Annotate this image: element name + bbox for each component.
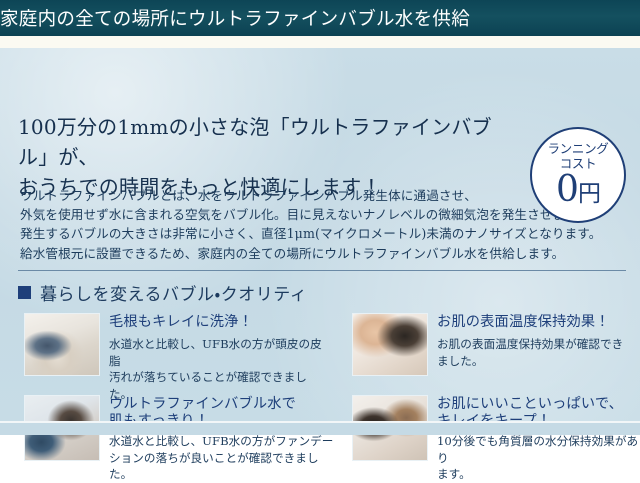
feature-card-text: ウルトラファインバブル水で 肌もすっきり！ 水道水と比較し、UFB水の方がファン… (109, 395, 334, 483)
feature-card-text: お肌にいいこといっぱいで、 キレイをキープ！ 10分後でも角質層の水分保持効果が… (437, 395, 640, 483)
feature-title-line-1: ウルトラファインバブル水で (109, 396, 296, 412)
paragraph-line-3: 発生するバブルの大きさは非常に小さく、直径1μm(マイクロメートル)未満のナノサ… (20, 224, 540, 243)
feature-body-line-1: 水道水と比較し、UFB水の方が頭皮の皮脂 (109, 336, 324, 369)
main-panel: 100万分の1mmの小さな泡「ウルトラファインバブル」が、 おうちでの時間をもっ… (0, 48, 640, 423)
badge-line-1: ランニング (547, 142, 608, 156)
badge-currency-unit: 円 (578, 181, 600, 207)
badge-amount: 0円 (556, 171, 600, 213)
lead-line-1: 100万分の1mmの小さな泡「ウルトラファインバブル」が、 (18, 115, 492, 169)
running-cost-badge: ランニング コスト 0円 (530, 127, 626, 223)
feature-card-body: 水道水と比較し、UFB水の方がファンデー ションの落ちが良いことが確認できました… (109, 433, 334, 483)
feature-card-text: 毛根もキレイに洗浄！ 水道水と比較し、UFB水の方が頭皮の皮脂 汚れが落ちている… (109, 313, 324, 402)
feature-card: お肌にいいこといっぱいで、 キレイをキープ！ 10分後でも角質層の水分保持効果が… (352, 395, 640, 483)
feature-card: 毛根もキレイに洗浄！ 水道水と比較し、UFB水の方が頭皮の皮脂 汚れが落ちている… (24, 313, 324, 402)
brochure-page: 家庭内の全ての場所にウルトラファインバブル水を供給 100万分の1mmの小さな泡… (0, 0, 640, 435)
feature-card: お肌の表面温度保持効果！ お肌の表面温度保持効果が確認でき ました。 (352, 313, 637, 376)
laundry-basket-photo (24, 313, 100, 376)
feature-body-line-2: ました。 (437, 353, 637, 370)
feature-title-line-1: お肌の表面温度保持効果！ (437, 314, 610, 330)
feature-body-line-2: ます。 (437, 466, 640, 483)
feature-card-title: お肌の表面温度保持効果！ (437, 314, 637, 331)
paragraph-line-1: ウルトラファインバブルとは、水をウルトラファインバブル発生体に通過させ、 (20, 186, 540, 205)
feature-body-line-2: ションの落ちが良いことが確認できました。 (109, 450, 334, 483)
cream-separator-band (0, 36, 640, 48)
feature-body-line-1: 水道水と比較し、UFB水の方がファンデー (109, 433, 334, 450)
bottom-strip (0, 423, 640, 435)
paragraph-line-4: 給水管根元に設置できるため、家庭内の全ての場所にウルトラファインバブル水を供給し… (20, 244, 540, 263)
section-heading: 暮らしを変えるバブル・クオリティ (18, 280, 307, 305)
feature-card-body: 水道水と比較し、UFB水の方が頭皮の皮脂 汚れが落ちていることが確認できました。 (109, 336, 324, 402)
section-divider (18, 270, 626, 271)
feature-body-line-1: お肌の表面温度保持効果が確認でき (437, 336, 637, 353)
feature-card-text: お肌の表面温度保持効果！ お肌の表面温度保持効果が確認でき ました。 (437, 313, 637, 369)
feature-card-body: お肌の表面温度保持効果が確認でき ました。 (437, 336, 637, 369)
feature-title-line-1: 毛根もキレイに洗浄！ (109, 314, 253, 330)
feature-card: ウルトラファインバブル水で 肌もすっきり！ 水道水と比較し、UFB水の方がファン… (24, 395, 334, 483)
description-paragraph: ウルトラファインバブルとは、水をウルトラファインバブル発生体に通過させ、 外気を… (20, 186, 540, 263)
header-bar: 家庭内の全ての場所にウルトラファインバブル水を供給 (0, 0, 640, 36)
feature-body-line-1: 10分後でも角質層の水分保持効果があり (437, 433, 640, 466)
section-heading-label: 暮らしを変えるバブル・クオリティ (40, 280, 307, 305)
square-bullet-icon (18, 286, 31, 299)
feature-card-title: 毛根もキレイに洗浄！ (109, 314, 324, 331)
feature-card-body: 10分後でも角質層の水分保持効果があり ます。 (437, 433, 640, 483)
header-title: 家庭内の全ての場所にウルトラファインバブル水を供給 (0, 5, 470, 31)
paragraph-line-2: 外気を使用せず水に含まれる空気をバブル化。目に見えないナノレベルの微細気泡を発生… (20, 205, 540, 224)
feature-title-line-1: お肌にいいこといっぱいで、 (437, 396, 623, 412)
baby-bath-photo (352, 313, 428, 376)
badge-amount-value: 0 (556, 169, 578, 210)
